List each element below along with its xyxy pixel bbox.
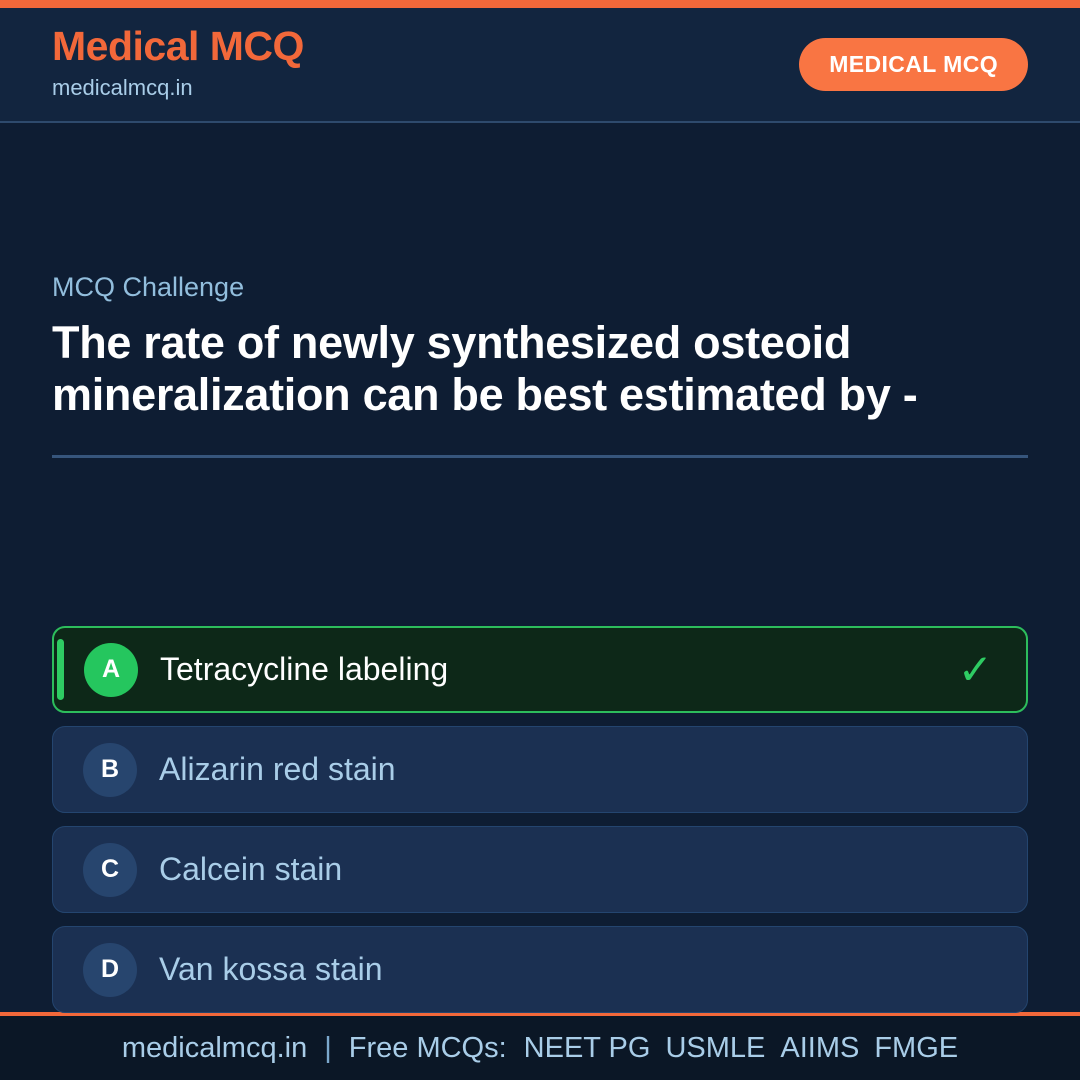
option-label: Alizarin red stain	[159, 752, 396, 787]
option-b[interactable]: BAlizarin red stain	[52, 726, 1028, 813]
top-accent-bar	[0, 0, 1080, 8]
brand-block: Medical MCQ medicalmcq.in	[52, 25, 304, 103]
question-label: MCQ Challenge	[52, 271, 1028, 303]
footer-exam-item: FMGE	[874, 1032, 958, 1065]
option-d[interactable]: DVan kossa stain	[52, 926, 1028, 1013]
question-divider	[52, 455, 1028, 458]
option-letter-badge: C	[83, 843, 137, 897]
footer-separator: |	[324, 1032, 332, 1065]
footer-exam-item: AIIMS	[780, 1032, 859, 1065]
correct-check-icon: ✓	[958, 649, 993, 691]
footer-site: medicalmcq.in	[122, 1032, 307, 1065]
correct-accent-bar	[57, 639, 64, 700]
brand-title: Medical MCQ	[52, 25, 304, 68]
option-a[interactable]: ATetracycline labeling✓	[52, 626, 1028, 713]
header-badge: MEDICAL MCQ	[799, 38, 1028, 91]
option-c[interactable]: CCalcein stain	[52, 826, 1028, 913]
option-label: Tetracycline labeling	[160, 652, 448, 687]
option-letter-badge: A	[84, 643, 138, 697]
option-letter-badge: B	[83, 743, 137, 797]
main-content: MCQ Challenge The rate of newly synthesi…	[0, 123, 1080, 1012]
footer-exam-item: NEET PG	[524, 1032, 651, 1065]
question-block: MCQ Challenge The rate of newly synthesi…	[52, 271, 1028, 458]
footer-exam-list: NEET PGUSMLEAIIMSFMGE	[524, 1032, 958, 1065]
footer-prefix: Free MCQs:	[349, 1032, 507, 1065]
brand-subtitle: medicalmcq.in	[52, 71, 304, 104]
mcq-card: Medical MCQ medicalmcq.in MEDICAL MCQ MC…	[0, 0, 1080, 1080]
page-footer: medicalmcq.in | Free MCQs: NEET PGUSMLEA…	[0, 1012, 1080, 1080]
footer-inner: medicalmcq.in | Free MCQs: NEET PGUSMLEA…	[122, 1032, 958, 1065]
question-text: The rate of newly synthesized osteoid mi…	[52, 317, 1028, 421]
option-label: Van kossa stain	[159, 952, 383, 987]
options-list: ATetracycline labeling✓BAlizarin red sta…	[52, 626, 1028, 1013]
option-letter-badge: D	[83, 943, 137, 997]
option-label: Calcein stain	[159, 852, 342, 887]
page-header: Medical MCQ medicalmcq.in MEDICAL MCQ	[0, 8, 1080, 123]
footer-exam-item: USMLE	[665, 1032, 765, 1065]
